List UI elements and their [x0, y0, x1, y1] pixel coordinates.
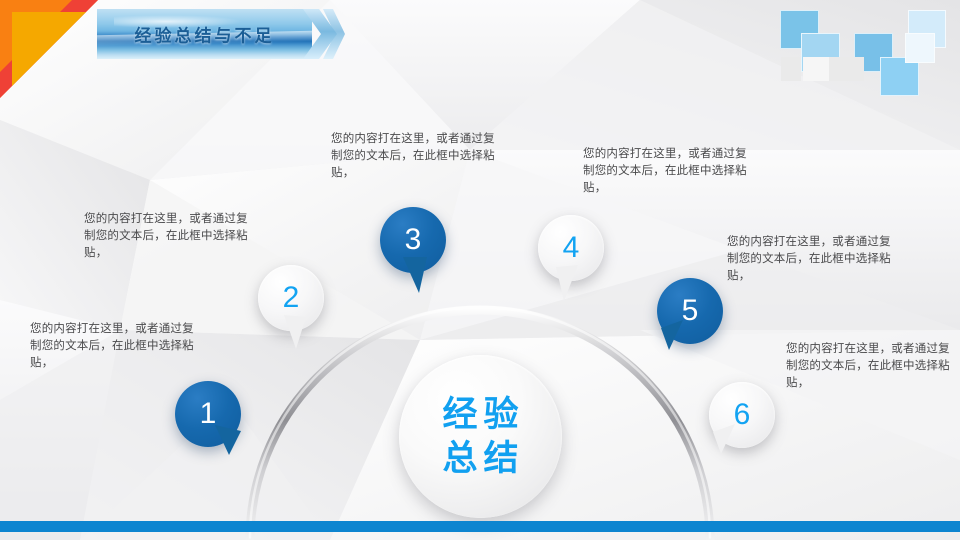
description-text-3: 您的内容打在这里，或者通过复制您的文本后，在此框中选择粘贴， [331, 131, 503, 182]
number-bubble-5[interactable]: 5 [657, 278, 723, 344]
center-label-line1: 经验 [436, 393, 524, 437]
bottom-accent-bar [0, 521, 960, 532]
decor-square [781, 57, 801, 81]
description-text-6: 您的内容打在这里，或者通过复制您的文本后，在此框中选择粘贴， [786, 341, 958, 392]
number-bubble-3[interactable]: 3 [380, 207, 446, 273]
bubble-number-6: 6 [734, 400, 751, 430]
bubble-number-4: 4 [563, 233, 580, 263]
bubble-number-2: 2 [283, 283, 300, 313]
description-text-1: 您的内容打在这里，或者通过复制您的文本后，在此框中选择粘贴， [30, 321, 202, 372]
number-bubble-1[interactable]: 1 [175, 381, 241, 447]
slide-canvas: 经验总结与不足 [0, 0, 960, 540]
number-bubble-6[interactable]: 6 [709, 382, 775, 448]
center-label-line2: 总结 [436, 437, 524, 481]
page-title: 经验总结与不足 [97, 22, 312, 47]
number-bubble-2[interactable]: 2 [258, 265, 324, 331]
bubble-number-3: 3 [405, 225, 422, 255]
title-banner: 经验总结与不足 [97, 9, 312, 59]
decor-square [829, 57, 864, 81]
number-bubble-4[interactable]: 4 [538, 215, 604, 281]
description-text-2: 您的内容打在这里，或者通过复制您的文本后，在此框中选择粘贴， [84, 211, 256, 262]
description-text-5: 您的内容打在这里，或者通过复制您的文本后，在此框中选择粘贴， [727, 234, 899, 285]
bubble-number-5: 5 [682, 296, 699, 326]
center-summary-circle: 经验 总结 [399, 355, 562, 518]
decor-square [905, 33, 935, 63]
description-text-4: 您的内容打在这里，或者通过复制您的文本后，在此框中选择粘贴， [583, 146, 755, 197]
bubble-number-1: 1 [200, 399, 217, 429]
